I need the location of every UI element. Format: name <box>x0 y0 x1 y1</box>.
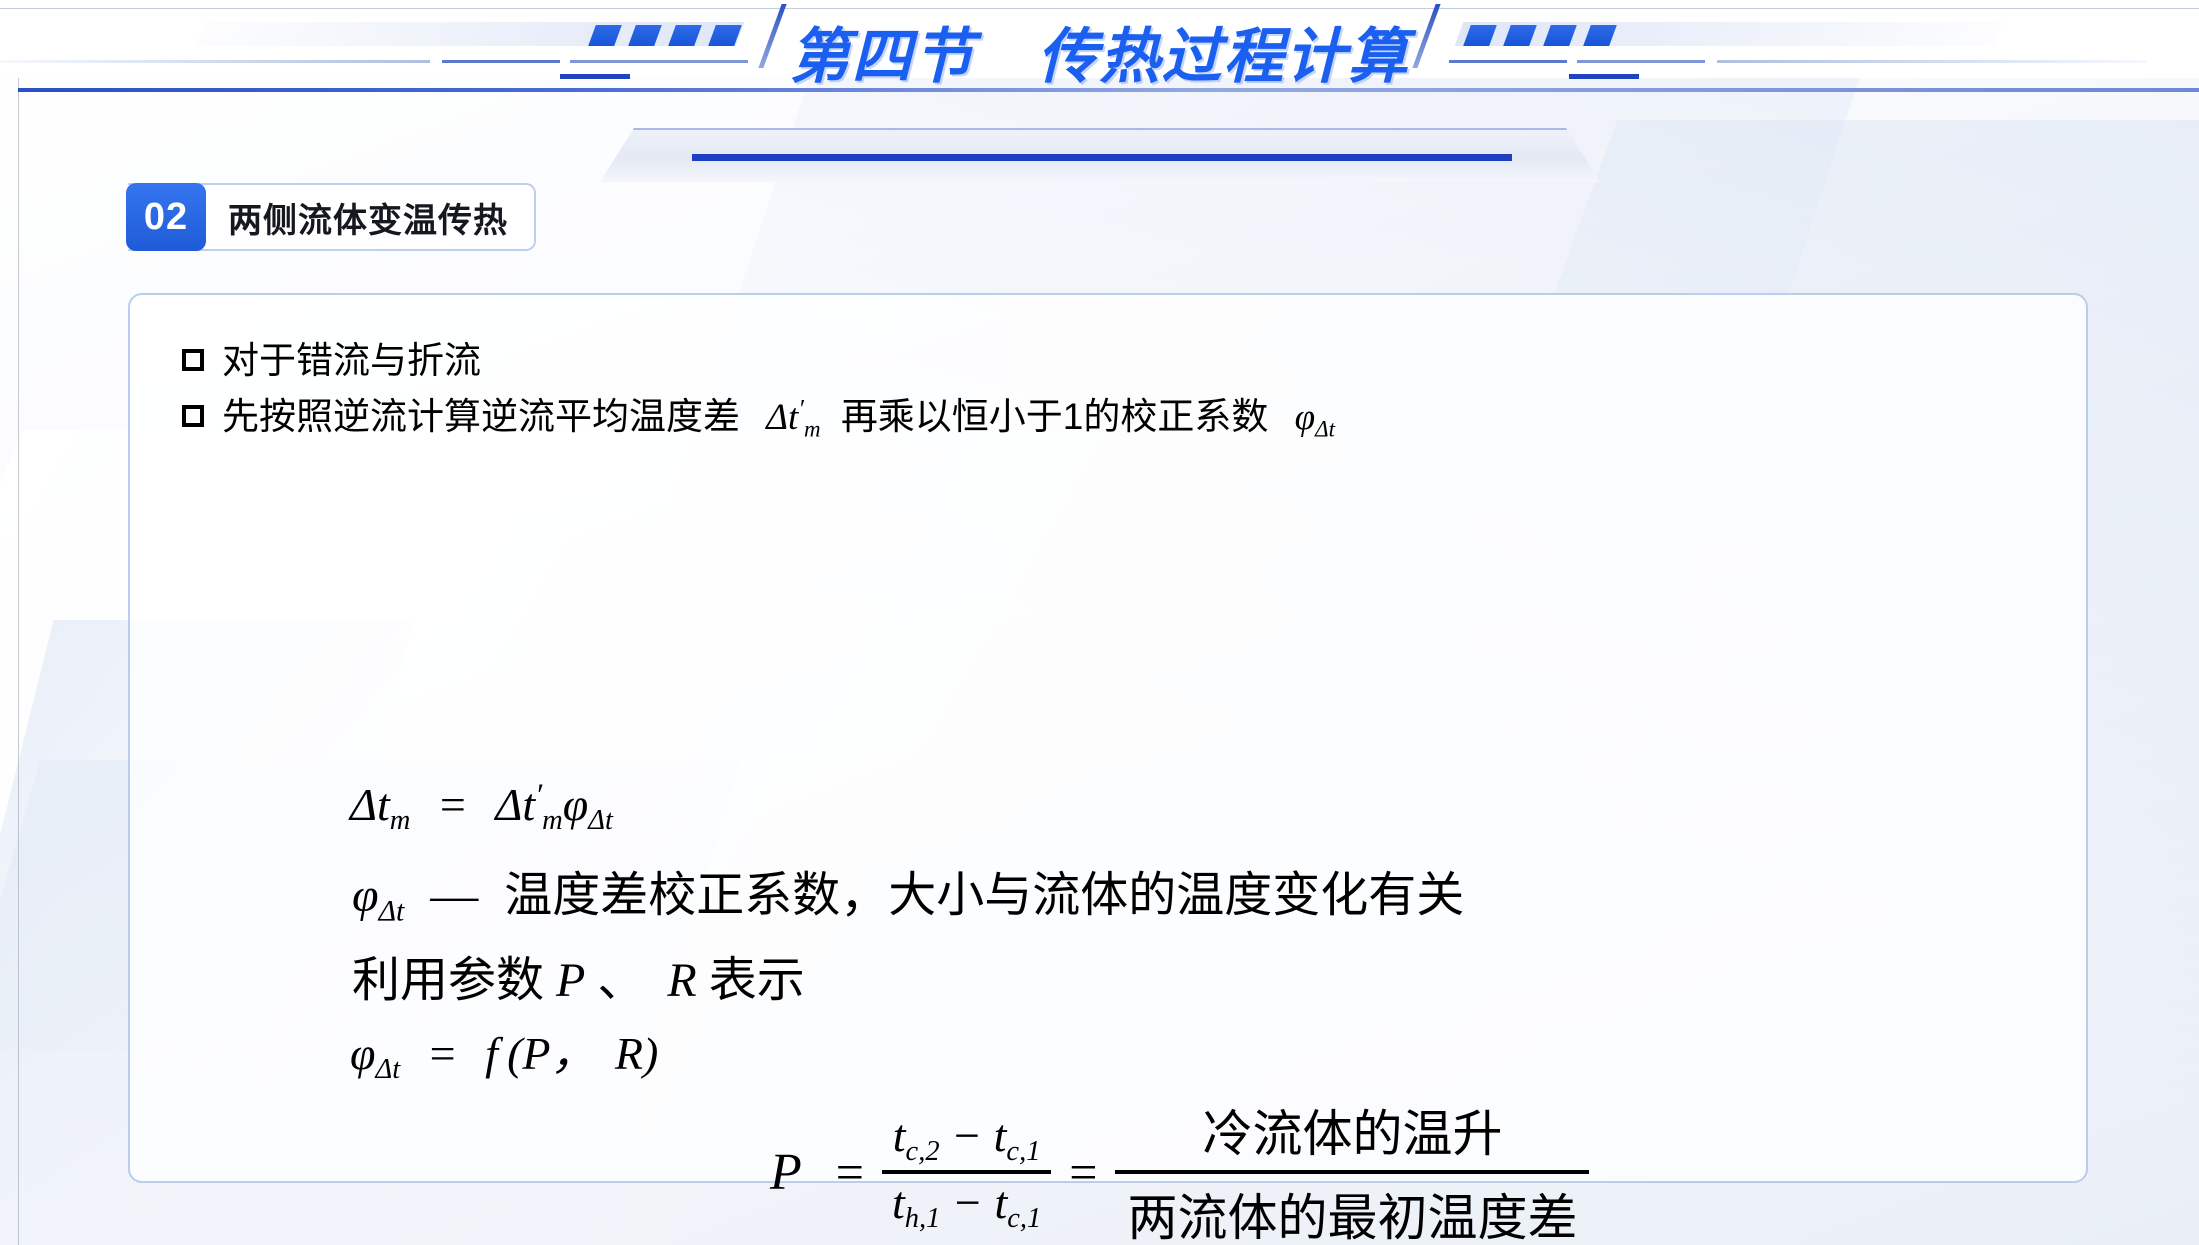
phi-definition-text: 温度差校正系数，大小与流体的温度变化有关 <box>504 869 1464 922</box>
eq-rhs: Δt′mφΔt <box>495 779 613 830</box>
phi-fn-rhs: f (P， R) <box>485 1028 658 1079</box>
equation-P-equals-2: = <box>1069 1143 1097 1201</box>
eq-equals: = <box>440 779 466 830</box>
param-separator: 、 <box>597 954 645 1007</box>
square-bullet-icon <box>182 349 204 371</box>
equation-P-equals-1: = <box>836 1143 864 1201</box>
page-title: 第四节 传热过程计算 <box>0 8 2199 95</box>
bullet-middle: 再乘以恒小于1的校正系数 <box>841 396 1269 437</box>
chevron-notch-right <box>1569 74 1639 79</box>
title-chevron-panel <box>600 128 1600 182</box>
equation-P-numerator: tc,2 − tc,1 <box>883 1107 1051 1170</box>
chevron-rule <box>692 154 1512 161</box>
equation-P-lhs: P <box>770 1143 802 1202</box>
equation-P: P = tc,2 − tc,1 th,1 − tc,1 = 冷流体的温升 两流体… <box>770 1090 1589 1245</box>
equation-P-cn-numerator: 冷流体的温升 <box>1190 1090 1514 1170</box>
bullet-prefix: 先按照逆流计算逆流平均温度差 <box>222 396 740 437</box>
param-p: P <box>556 954 585 1007</box>
eq-lhs: Δtm <box>350 779 410 830</box>
equation-P-fraction: tc,2 − tc,1 th,1 − tc,1 <box>882 1107 1051 1237</box>
param-line: 利用参数 P 、 R 表示 <box>352 940 805 1010</box>
param-text-before: 利用参数 <box>352 954 544 1007</box>
list-item: 先按照逆流计算逆流平均温度差 Δt′m 再乘以恒小于1的校正系数 φΔt <box>182 389 1335 447</box>
symbol-delta-t-m-prime: Δt′m <box>766 397 820 438</box>
equation-phi-function: φΔt = f (P， R) <box>350 1017 658 1086</box>
left-edge-rule <box>18 60 19 1245</box>
phi-symbol: φΔt <box>352 869 404 922</box>
section-number: 02 <box>126 183 206 251</box>
chevron-notch-left <box>560 74 630 79</box>
phi-definition-line: φΔt — 温度差校正系数，大小与流体的温度变化有关 <box>352 855 1464 929</box>
header-underline <box>18 88 2199 92</box>
equation-delta-tm: Δtm = Δt′mφΔt <box>350 777 613 838</box>
list-item: 对于错流与折流 <box>182 333 1335 389</box>
section-heading: 两侧流体变温传热 <box>206 185 534 249</box>
param-r: R <box>667 954 696 1007</box>
square-bullet-icon <box>182 405 204 427</box>
em-dash: — <box>430 869 478 922</box>
equation-P-denominator: th,1 − tc,1 <box>882 1174 1051 1237</box>
bullet-list: 对于错流与折流 先按照逆流计算逆流平均温度差 Δt′m 再乘以恒小于1的校正系数… <box>182 333 1335 446</box>
equation-P-cn-fraction: 冷流体的温升 两流体的最初温度差 <box>1115 1090 1589 1245</box>
slide-header: 第四节 传热过程计算 <box>0 0 2199 78</box>
bullet-text-composite: 先按照逆流计算逆流平均温度差 Δt′m 再乘以恒小于1的校正系数 φΔt <box>222 389 1335 447</box>
slide-root: 第四节 传热过程计算 02 两侧流体变温传热 对于错流与折流 先按照逆流计算逆流… <box>0 0 2199 1245</box>
phi-fn-symbol: φΔt <box>350 1028 400 1079</box>
equation-P-cn-denominator: 两流体的最初温度差 <box>1115 1174 1589 1245</box>
symbol-phi-delta-t: φΔt <box>1295 397 1335 438</box>
section-badge[interactable]: 02 两侧流体变温传热 <box>128 183 536 251</box>
bullet-text: 对于错流与折流 <box>222 333 481 389</box>
param-text-after: 表示 <box>709 954 805 1007</box>
phi-fn-equals: = <box>430 1028 456 1079</box>
content-card: 对于错流与折流 先按照逆流计算逆流平均温度差 Δt′m 再乘以恒小于1的校正系数… <box>128 293 2088 1183</box>
